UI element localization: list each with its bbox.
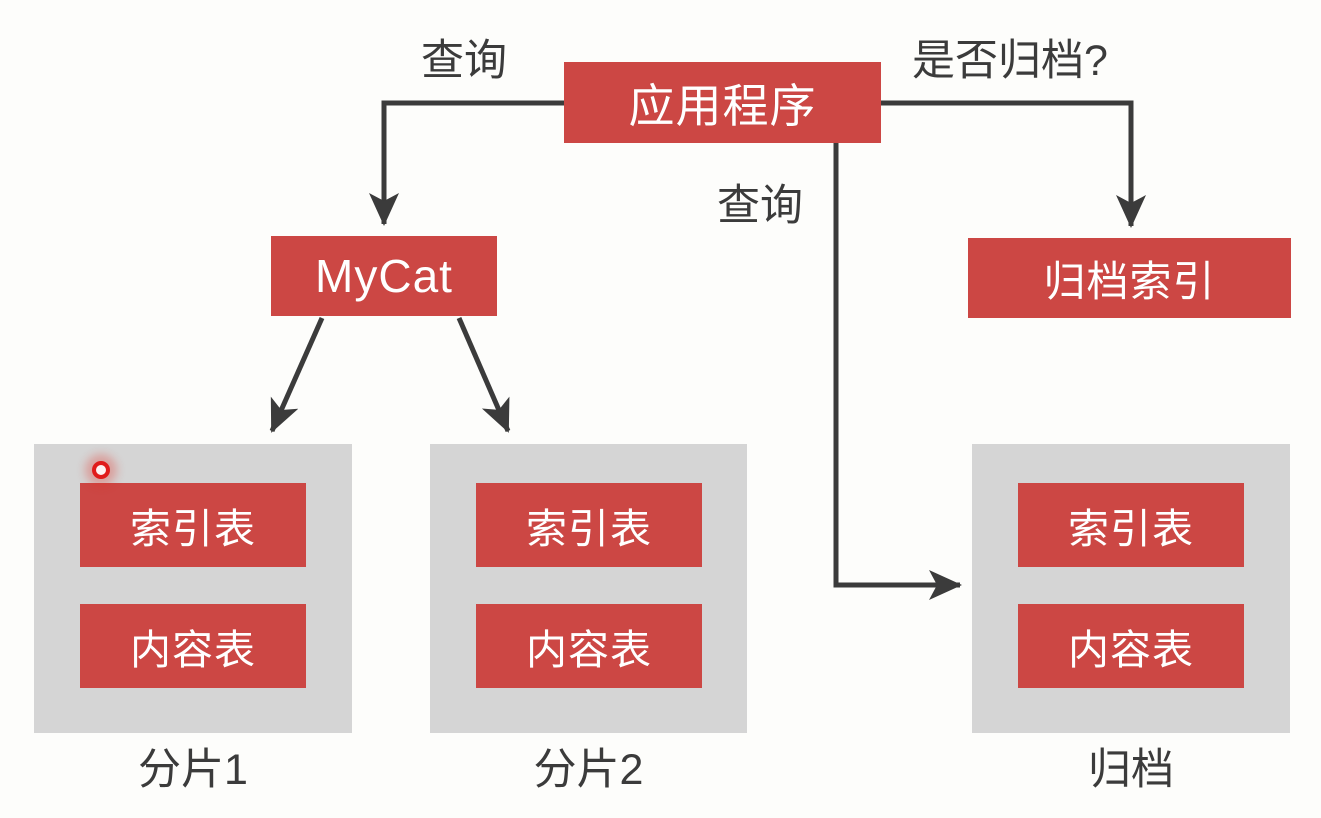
edge-app-to-archive-index bbox=[881, 103, 1131, 226]
node-mycat[interactable]: MyCat bbox=[271, 236, 497, 316]
edge-mycat-to-shard1 bbox=[272, 318, 322, 431]
edge-label-query-left: 查询 bbox=[421, 40, 507, 83]
panel-shard1[interactable]: 索引表 内容表 bbox=[34, 444, 352, 733]
edge-mycat-to-shard2 bbox=[459, 318, 508, 431]
edge-label-query-middle: 查询 bbox=[717, 185, 803, 228]
diagram-canvas: 应用程序 MyCat 归档索引 查询 是否归档? 查询 索引表 内容表 索引表 … bbox=[0, 0, 1321, 818]
caption-shard2: 分片2 bbox=[430, 749, 747, 792]
edge-app-to-mycat bbox=[384, 103, 564, 224]
panel-shard2[interactable]: 索引表 内容表 bbox=[430, 444, 747, 733]
box-shard2-index-table[interactable]: 索引表 bbox=[476, 483, 702, 567]
panel-archive[interactable]: 索引表 内容表 bbox=[972, 444, 1290, 733]
edge-label-archive-decision: 是否归档? bbox=[912, 40, 1108, 83]
box-archive-index-table[interactable]: 索引表 bbox=[1018, 483, 1244, 567]
node-application[interactable]: 应用程序 bbox=[564, 62, 881, 143]
caption-shard1: 分片1 bbox=[34, 749, 352, 792]
node-archive-index[interactable]: 归档索引 bbox=[968, 238, 1291, 318]
box-shard1-content-table[interactable]: 内容表 bbox=[80, 604, 306, 688]
box-shard1-index-table[interactable]: 索引表 bbox=[80, 483, 306, 567]
box-archive-content-table[interactable]: 内容表 bbox=[1018, 604, 1244, 688]
edge-app-to-archive-panel bbox=[836, 143, 960, 585]
caption-archive: 归档 bbox=[972, 749, 1290, 792]
box-shard2-content-table[interactable]: 内容表 bbox=[476, 604, 702, 688]
click-marker bbox=[92, 461, 110, 479]
